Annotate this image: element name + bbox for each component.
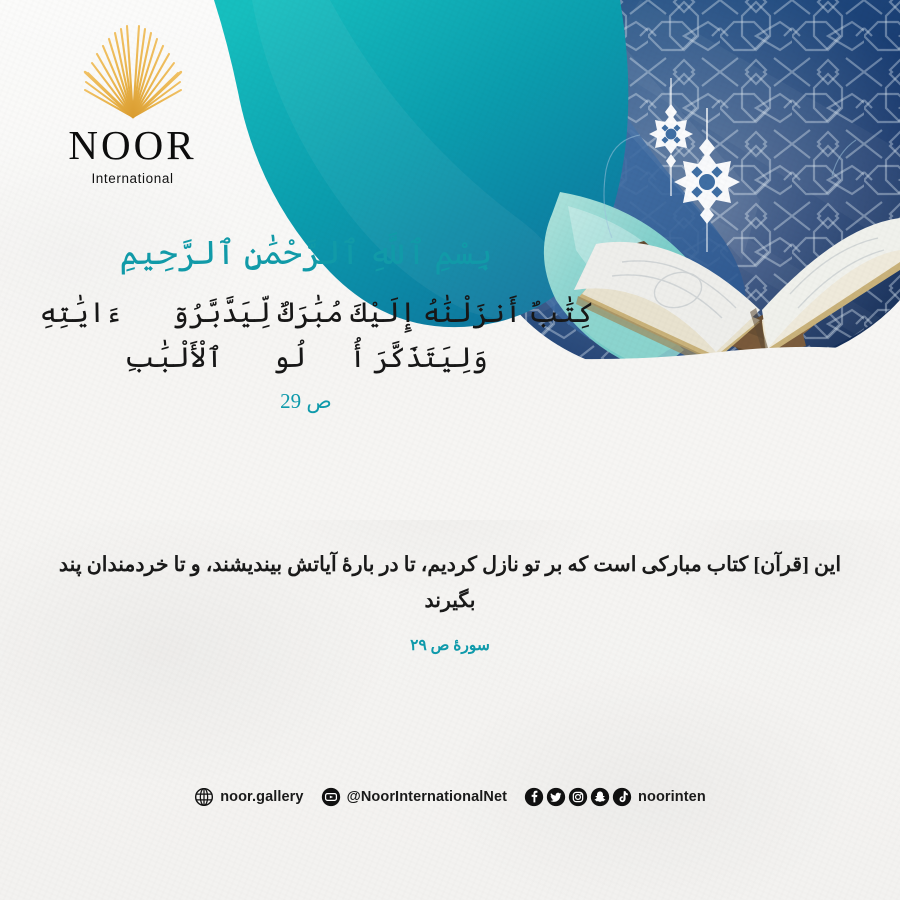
twitter-icon[interactable] — [546, 787, 566, 807]
bismillah-text: بِسْمِ ٱللَّهِ ٱلرَّحْمَٰنِ ٱلرَّحِيمِ — [0, 232, 612, 277]
social-links[interactable]: noorinten — [524, 787, 706, 807]
quran-verse-card: NOOR International بِسْمِ ٱللَّهِ ٱلرَّح… — [0, 0, 900, 900]
instagram-icon[interactable] — [568, 787, 588, 807]
translation-reference: سورۀ ص ۲۹ — [0, 636, 900, 655]
snapchat-icon[interactable] — [590, 787, 610, 807]
social-footer: noor.gallery @NoorInternationalNet — [0, 787, 900, 807]
translation-text: این [قرآن] کتاب مبارکی است که بر تو نازل… — [0, 548, 900, 620]
facebook-icon[interactable] — [524, 787, 544, 807]
youtube-link[interactable]: @NoorInternationalNet — [321, 787, 507, 807]
tiktok-icon[interactable] — [612, 787, 632, 807]
arabic-scripture-block: بِسْمِ ٱللَّهِ ٱلرَّحْمَٰنِ ٱلرَّحِيمِ ك… — [0, 232, 612, 414]
brand-tagline: International — [40, 171, 225, 186]
website-link[interactable]: noor.gallery — [194, 787, 303, 807]
sunburst-icon — [68, 18, 198, 123]
ayah-reference: ص 29 — [0, 389, 612, 414]
ayah-text: كِتَٰبٌ أَنزَلْنَٰهُ إِلَيْكَ مُبَٰرَكٌ … — [0, 291, 612, 382]
brand-name: NOOR — [40, 125, 225, 166]
social-label: noorinten — [638, 789, 706, 805]
brand-logo: NOOR International — [40, 18, 225, 186]
youtube-label: @NoorInternationalNet — [347, 789, 507, 805]
website-label: noor.gallery — [220, 789, 303, 805]
translation-block: این [قرآن] کتاب مبارکی است که بر تو نازل… — [0, 548, 900, 655]
globe-icon — [194, 787, 214, 807]
youtube-icon — [321, 787, 341, 807]
